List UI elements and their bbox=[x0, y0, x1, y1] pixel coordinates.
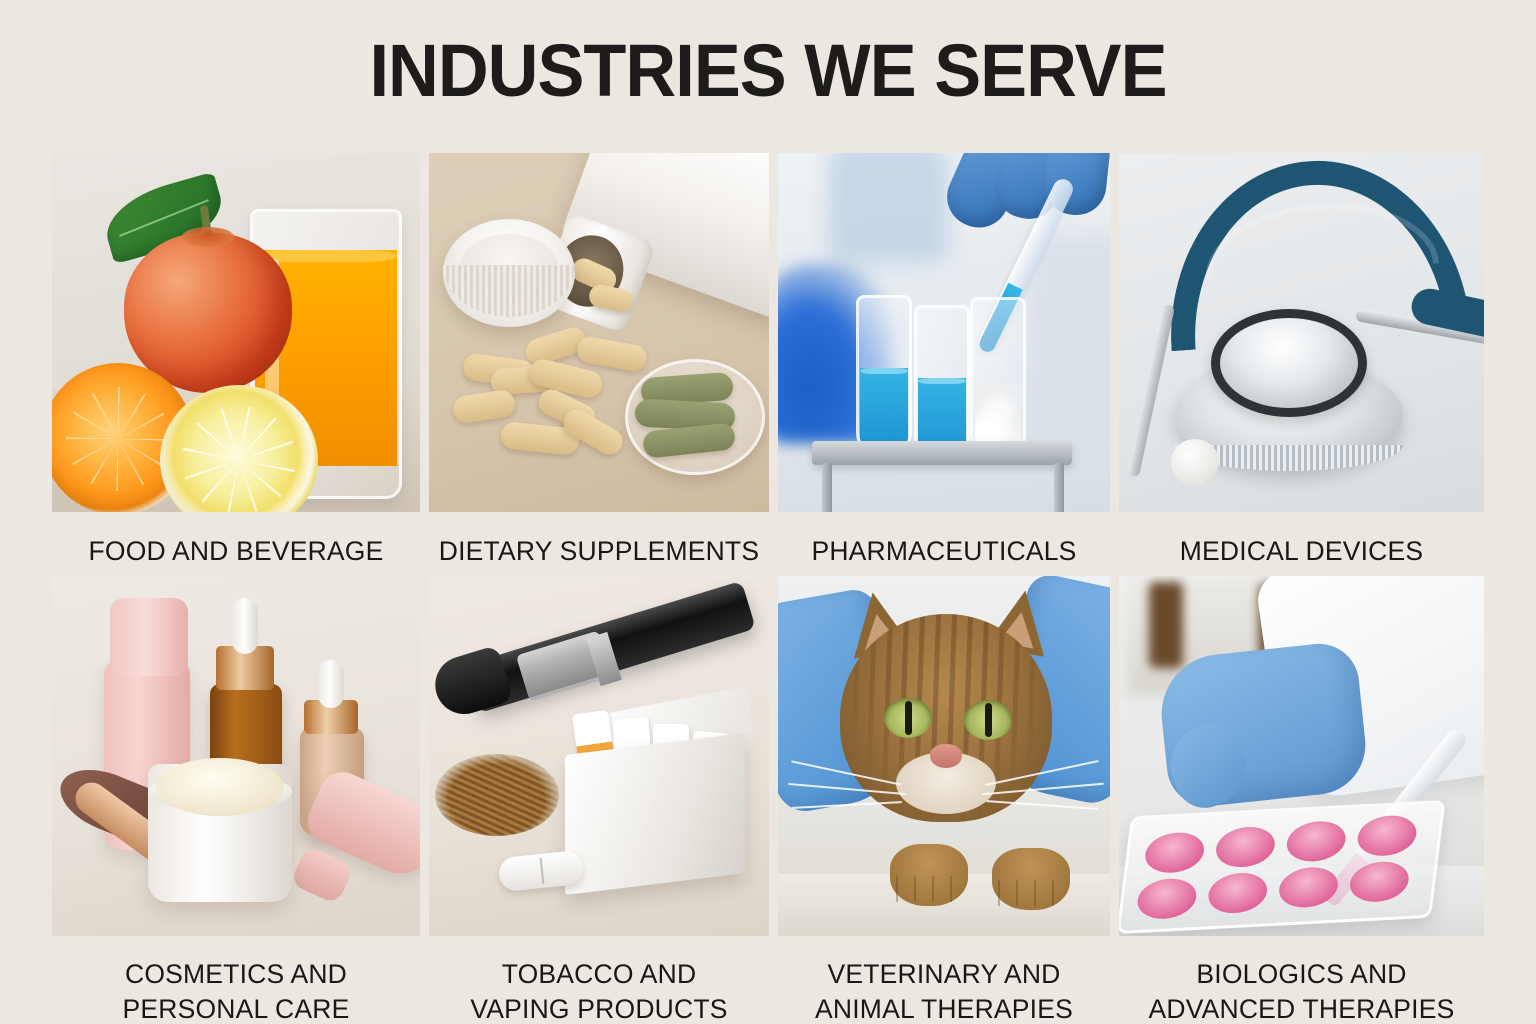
industry-card-medical-devices[interactable]: MEDICAL DEVICES bbox=[1119, 153, 1484, 569]
industry-caption: VETERINARY AND ANIMAL THERAPIES bbox=[778, 936, 1110, 1024]
industries-grid: FOOD AND BEVERAGE bbox=[52, 153, 1484, 1024]
industry-caption: DIETARY SUPPLEMENTS bbox=[429, 512, 769, 569]
veterinary-and-animal-therapies-image bbox=[778, 576, 1110, 936]
industry-card-cosmetics-and-personal-care[interactable]: COSMETICS AND PERSONAL CARE bbox=[52, 576, 420, 1024]
industry-caption: FOOD AND BEVERAGE bbox=[52, 512, 420, 569]
industry-caption: COSMETICS AND PERSONAL CARE bbox=[52, 936, 420, 1024]
grid-row-2: COSMETICS AND PERSONAL CARE bbox=[52, 576, 1484, 1024]
industry-card-veterinary-and-animal-therapies[interactable]: VETERINARY AND ANIMAL THERAPIES bbox=[778, 576, 1110, 1024]
food-and-beverage-image bbox=[52, 153, 420, 512]
industry-card-tobacco-and-vaping-products[interactable]: TOBACCO AND VAPING PRODUCTS bbox=[429, 576, 769, 1024]
page-title: INDUSTRIES WE SERVE bbox=[38, 34, 1497, 108]
industry-card-dietary-supplements[interactable]: DIETARY SUPPLEMENTS bbox=[429, 153, 769, 569]
industry-caption: MEDICAL DEVICES bbox=[1119, 512, 1484, 569]
biologics-and-advanced-therapies-image bbox=[1119, 576, 1484, 936]
tobacco-and-vaping-products-image bbox=[429, 576, 769, 936]
industry-caption: PHARMACEUTICALS bbox=[778, 512, 1110, 569]
industry-card-food-and-beverage[interactable]: FOOD AND BEVERAGE bbox=[52, 153, 420, 569]
dietary-supplements-image bbox=[429, 153, 769, 512]
industry-card-pharmaceuticals[interactable]: PHARMACEUTICALS bbox=[778, 153, 1110, 569]
industry-caption: BIOLOGICS AND ADVANCED THERAPIES bbox=[1119, 936, 1484, 1024]
grid-row-1: FOOD AND BEVERAGE bbox=[52, 153, 1484, 569]
cosmetics-and-personal-care-image bbox=[52, 576, 420, 936]
poster-page: INDUSTRIES WE SERVE bbox=[0, 0, 1536, 1024]
pharmaceuticals-image bbox=[778, 153, 1110, 512]
medical-devices-image bbox=[1119, 153, 1484, 512]
industry-card-biologics-and-advanced-therapies[interactable]: BIOLOGICS AND ADVANCED THERAPIES bbox=[1119, 576, 1484, 1024]
industry-caption: TOBACCO AND VAPING PRODUCTS bbox=[429, 936, 769, 1024]
